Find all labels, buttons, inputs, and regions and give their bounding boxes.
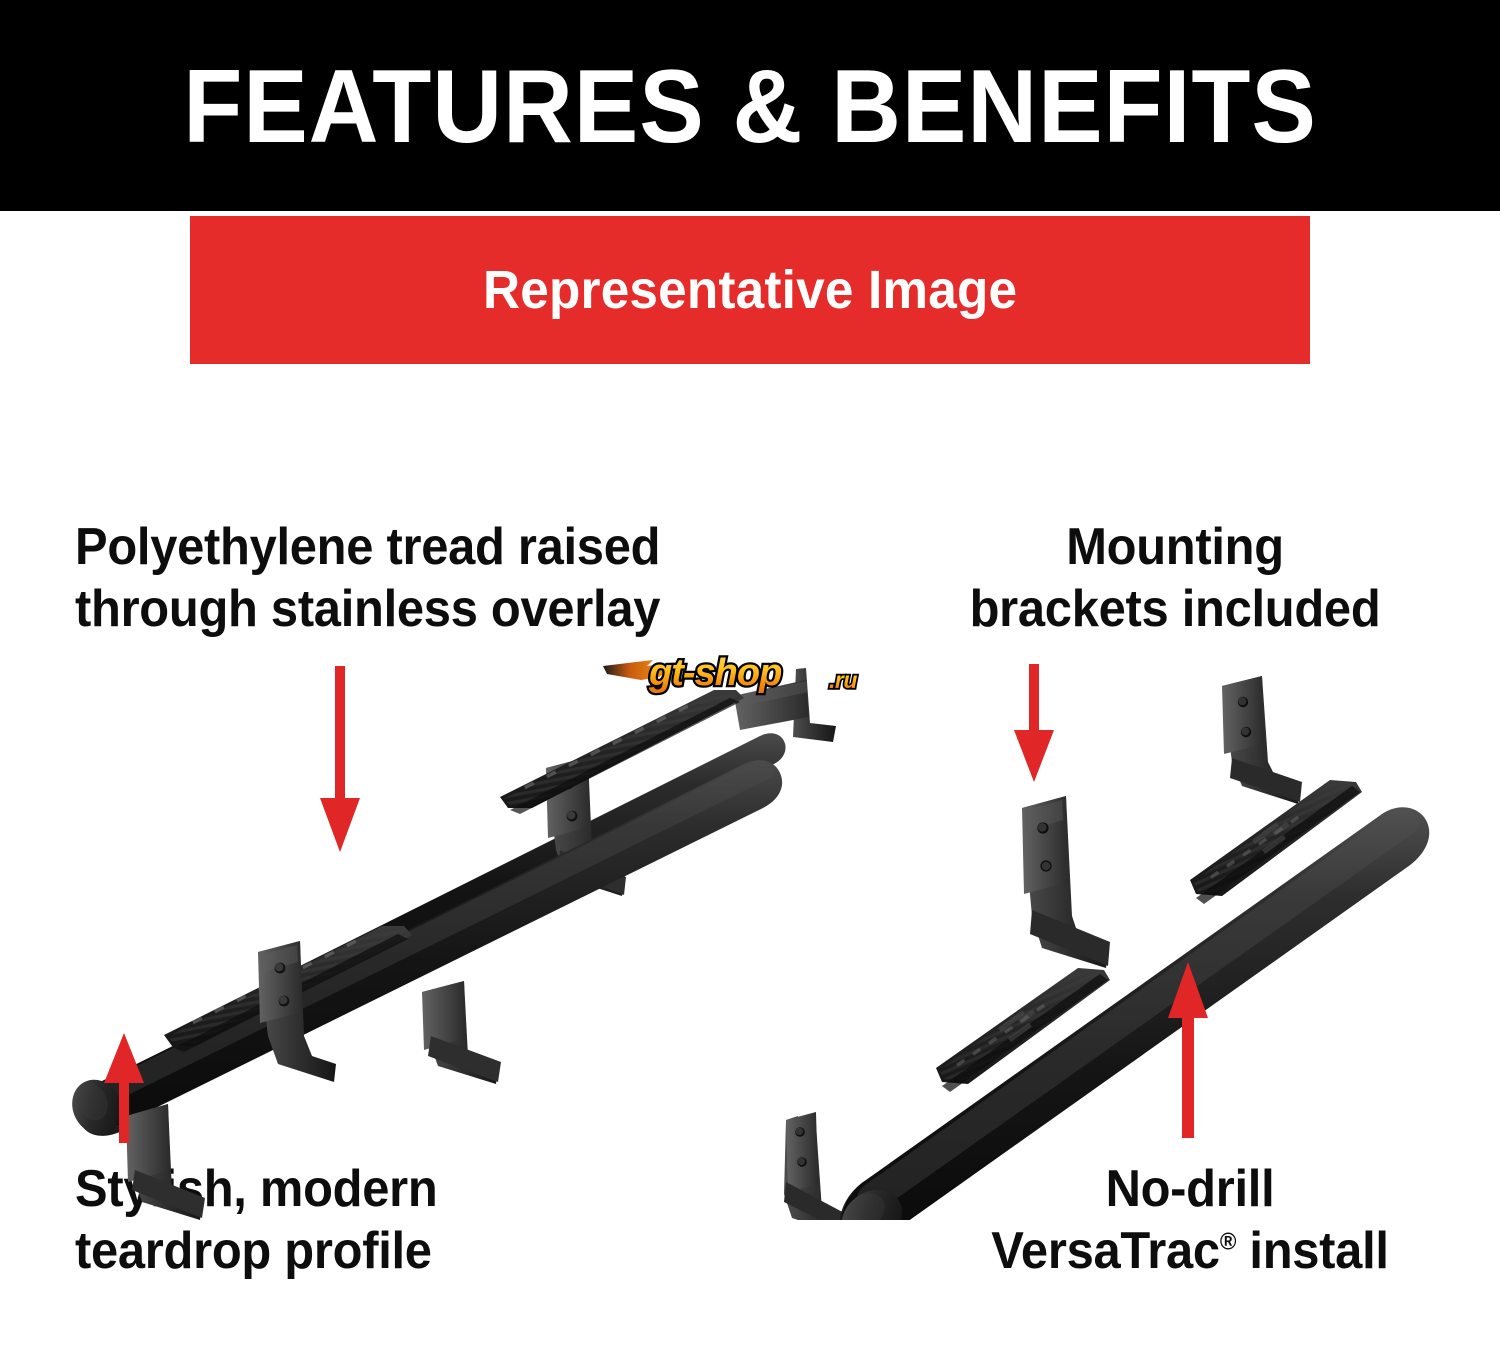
svg-text:gt-shop: gt-shop [648, 652, 781, 694]
step-tread-pad [164, 926, 412, 1052]
callout-tread-line2: through stainless overlay [75, 578, 789, 640]
step-tread-pad [1190, 780, 1362, 904]
callout-versatrac-label: No-drill VersaTrac® install [946, 1158, 1435, 1282]
callout-brackets-label: Mounting brackets included [921, 516, 1429, 640]
banner-label: Representative Image [483, 260, 1017, 320]
step-tread-pad [936, 968, 1110, 1092]
callout-brackets-line2: brackets included [921, 578, 1429, 640]
mounting-bracket [1222, 676, 1302, 804]
step-tread-pad [500, 690, 744, 814]
mounting-bracket [1022, 796, 1110, 968]
gt-shop-watermark: gt-shop .ru [601, 640, 901, 702]
representative-image-banner: Representative Image [190, 216, 1310, 364]
callout-tread-line1: Polyethylene tread raised [75, 516, 789, 578]
running-board-tube [84, 760, 782, 1128]
callout-versatrac-line2: VersaTrac® install [946, 1220, 1435, 1282]
versatrac-wordmark: VersaTrac [991, 1222, 1220, 1280]
callout-tread-label: Polyethylene tread raised through stainl… [75, 516, 789, 640]
running-board-right-view [784, 676, 1429, 1220]
arrow-up-versatrac [1164, 962, 1212, 1140]
running-board-left-view [63, 668, 836, 1220]
page-title: FEATURES & BENEFITS [53, 52, 1448, 162]
product-illustration-area [0, 380, 1500, 1220]
versatrac-suffix: install [1236, 1222, 1389, 1280]
callout-teardrop-line2: teardrop profile [75, 1220, 677, 1282]
svg-text:.ru: .ru [829, 667, 857, 693]
mounting-bracket [422, 981, 501, 1084]
mounting-bracket [546, 757, 626, 896]
callout-versatrac-line1: No-drill [946, 1158, 1435, 1220]
arrow-up-teardrop [100, 1033, 148, 1145]
mounting-bracket [258, 941, 336, 1082]
mounting-bracket [784, 1112, 850, 1220]
arrow-down-tread [316, 666, 364, 854]
registered-trademark-icon: ® [1220, 1229, 1236, 1256]
callout-teardrop-line1: Stylish, modern [75, 1158, 677, 1220]
callout-teardrop-label: Stylish, modern teardrop profile [75, 1158, 677, 1282]
arrow-down-brackets [1010, 664, 1058, 784]
header-bar: FEATURES & BENEFITS [0, 0, 1500, 211]
watermark-wordmark: gt-shop .ru [648, 652, 857, 694]
teardrop-end-cap [831, 1178, 913, 1220]
callout-brackets-line1: Mounting [921, 516, 1429, 578]
